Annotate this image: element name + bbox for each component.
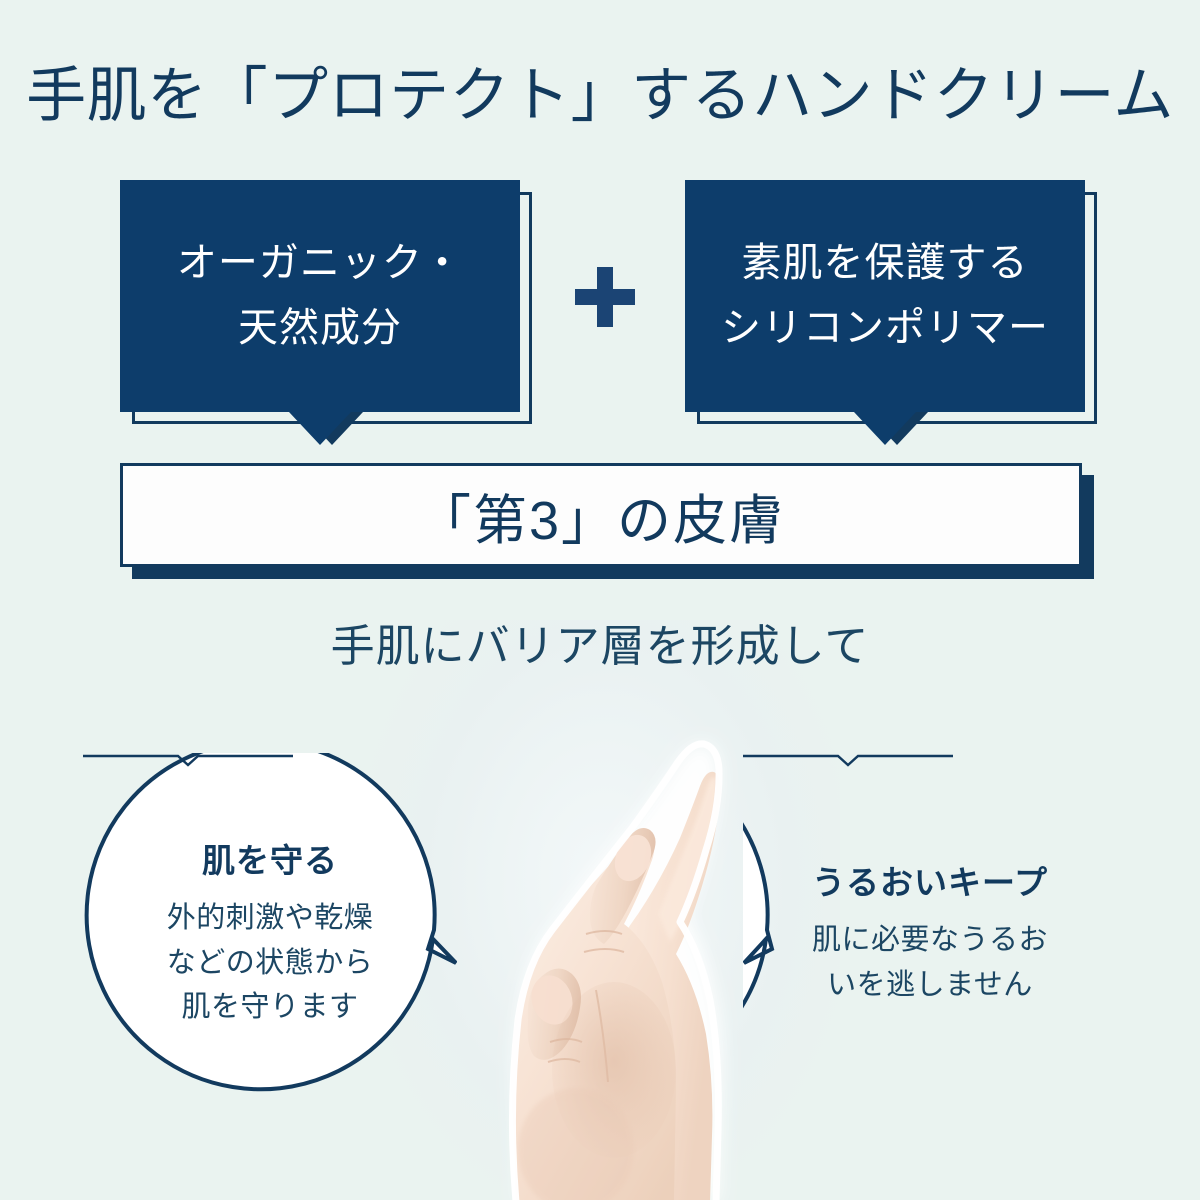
divider-with-notch — [743, 753, 953, 767]
bubble-content: 肌を守る 外的刺激や乾燥 などの状態から 肌を守ります — [83, 753, 457, 1107]
divider-line — [83, 756, 293, 765]
ingredient-box-tail — [854, 412, 916, 445]
bubble-desc-line: 外的刺激や乾燥 — [167, 896, 374, 941]
benefit-bubble-moisture: うるおいキープ 肌に必要なうるお いを逃しません — [743, 753, 1117, 1107]
bubble-content: うるおいキープ 肌に必要なうるお いを逃しません — [743, 753, 1117, 1107]
ingredient-box-text: 素肌を保護する シリコンポリマー — [685, 180, 1085, 412]
bubble-desc-line: いを逃しません — [812, 963, 1048, 1008]
ingredient-box-organic: オーガニック・ 天然成分 — [120, 180, 520, 412]
ingredient-line-2: 天然成分 — [238, 296, 402, 361]
result-bar-body: 「第3」の皮膚 — [120, 463, 1082, 567]
ingredient-box-silicone: 素肌を保護する シリコンポリマー — [685, 180, 1085, 412]
ingredient-line-1: 素肌を保護する — [742, 231, 1029, 296]
bubble-desc-line: 肌に必要なうるお — [812, 918, 1048, 963]
ingredient-line-2: シリコンポリマー — [721, 296, 1049, 361]
bubble-desc-line: 肌を守ります — [167, 985, 374, 1030]
bubble-description: 外的刺激や乾燥 などの状態から 肌を守ります — [167, 896, 374, 1031]
divider-line — [743, 756, 953, 765]
result-bar-label: 「第3」の皮膚 — [417, 476, 785, 555]
bubble-heading: 肌を守る — [202, 834, 338, 882]
bubble-description: 肌に必要なうるお いを逃しません — [812, 918, 1048, 1008]
divider-with-notch — [83, 753, 293, 767]
plus-icon — [575, 267, 635, 327]
infographic-canvas: 手肌を「プロテクト」するハンドクリーム オーガニック・ 天然成分 素肌を保護する… — [0, 0, 1200, 1200]
result-bar: 「第3」の皮膚 — [120, 463, 1082, 567]
page-title: 手肌を「プロテクト」するハンドクリーム — [0, 62, 1200, 129]
ingredient-box-tail — [289, 412, 351, 445]
ingredient-box-text: オーガニック・ 天然成分 — [120, 180, 520, 412]
ingredient-line-1: オーガニック・ — [177, 231, 463, 296]
bubble-heading: うるおいキープ — [812, 856, 1048, 904]
benefit-bubble-protect: 肌を守る 外的刺激や乾燥 などの状態から 肌を守ります — [83, 753, 457, 1107]
sub-caption: 手肌にバリア層を形成して — [0, 610, 1200, 674]
bubble-desc-line: などの状態から — [167, 941, 374, 986]
